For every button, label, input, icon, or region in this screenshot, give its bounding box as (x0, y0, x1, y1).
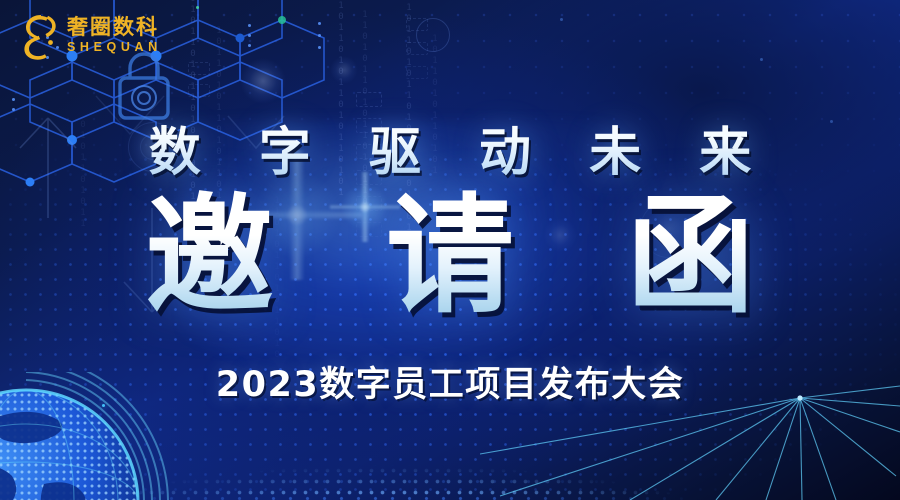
event-subtitle: 2023数字员工项目发布大会 (0, 356, 900, 407)
invitation-poster: 01011010110101101011 10110101101011010 0… (0, 0, 900, 500)
headline-large: 邀 请 函 (0, 190, 900, 323)
poster-content: 数 字 驱 动 未 来 邀 请 函 2023数字员工项目发布大会 (0, 0, 900, 500)
headline-small: 数 字 驱 动 未 来 (0, 110, 900, 185)
